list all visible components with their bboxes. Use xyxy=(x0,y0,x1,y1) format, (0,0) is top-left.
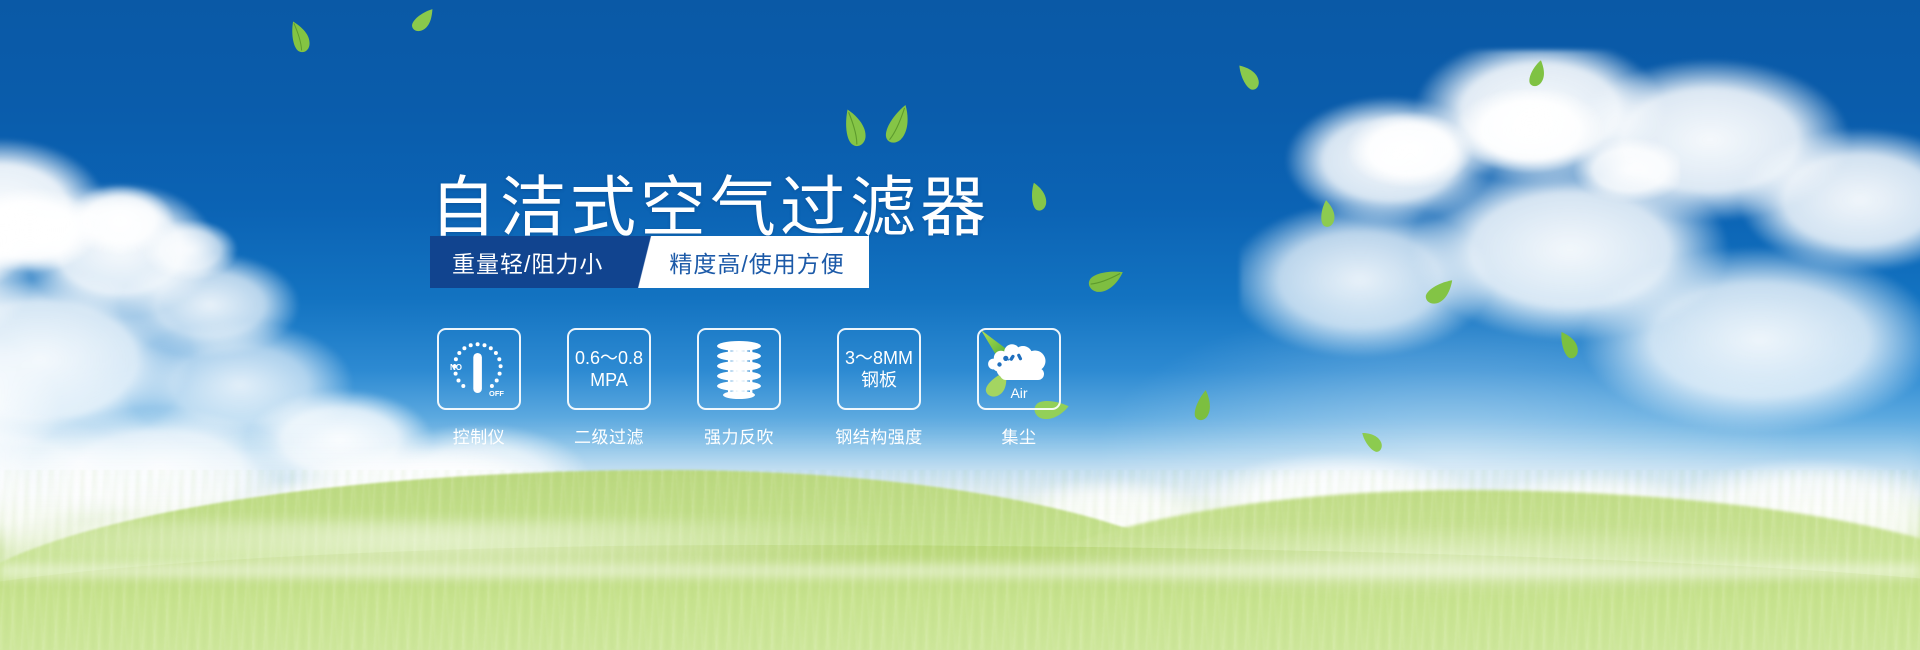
pressure-value-icon: 0.6～0.8 MPA xyxy=(575,347,643,392)
tagline-separator xyxy=(629,236,665,288)
feature-icon-box: 3～8MM 钢板 xyxy=(837,328,921,410)
feature-item: NO OFF 控制仪 xyxy=(437,328,521,448)
air-cloud-icon: Air xyxy=(979,328,1059,406)
air-label: Air xyxy=(1010,385,1027,401)
steel-material: 钢板 xyxy=(845,369,913,392)
feature-icon-box xyxy=(697,328,781,410)
page-title: 自洁式空气过滤器 xyxy=(430,174,990,240)
pressure-range: 0.6～0.8 xyxy=(575,347,643,370)
feature-item: 3～8MM 钢板 钢结构强度 xyxy=(827,328,931,448)
feature-label: 强力反吹 xyxy=(704,423,774,448)
feature-icon-box: 0.6～0.8 MPA xyxy=(567,328,651,410)
gauge-dial-icon: NO OFF xyxy=(442,334,516,404)
tagline-primary: 重量轻/阻力小 xyxy=(430,236,629,288)
feature-item: Air 集尘 xyxy=(977,328,1061,448)
pressure-unit: MPA xyxy=(575,369,643,392)
steel-thickness: 3～8MM xyxy=(845,347,913,370)
tagline-secondary: 精度高/使用方便 xyxy=(665,236,868,288)
feature-label: 控制仪 xyxy=(453,423,506,448)
product-hero-banner: 自洁式空气过滤器 重量轻/阻力小 精度高/使用方便 xyxy=(0,0,1920,650)
feature-icon-box: NO OFF xyxy=(437,328,521,410)
banner-content: 自洁式空气过滤器 重量轻/阻力小 精度高/使用方便 xyxy=(0,0,1920,650)
feature-label: 钢结构强度 xyxy=(835,423,923,448)
feature-icon-box: Air xyxy=(977,328,1061,410)
tagline-group: 重量轻/阻力小 精度高/使用方便 xyxy=(430,236,869,288)
feature-label: 集尘 xyxy=(1002,423,1037,448)
feature-list: NO OFF 控制仪 0.6～0.8 MPA 二级过滤 xyxy=(437,328,1061,448)
filter-cartridge-icon xyxy=(710,337,768,401)
feature-item: 0.6～0.8 MPA 二级过滤 xyxy=(567,328,651,448)
gauge-on-label: NO xyxy=(450,363,462,372)
steel-plate-value-icon: 3～8MM 钢板 xyxy=(845,347,913,392)
feature-item: 强力反吹 xyxy=(697,328,781,448)
feature-label: 二级过滤 xyxy=(574,423,644,448)
gauge-off-label: OFF xyxy=(489,389,504,398)
